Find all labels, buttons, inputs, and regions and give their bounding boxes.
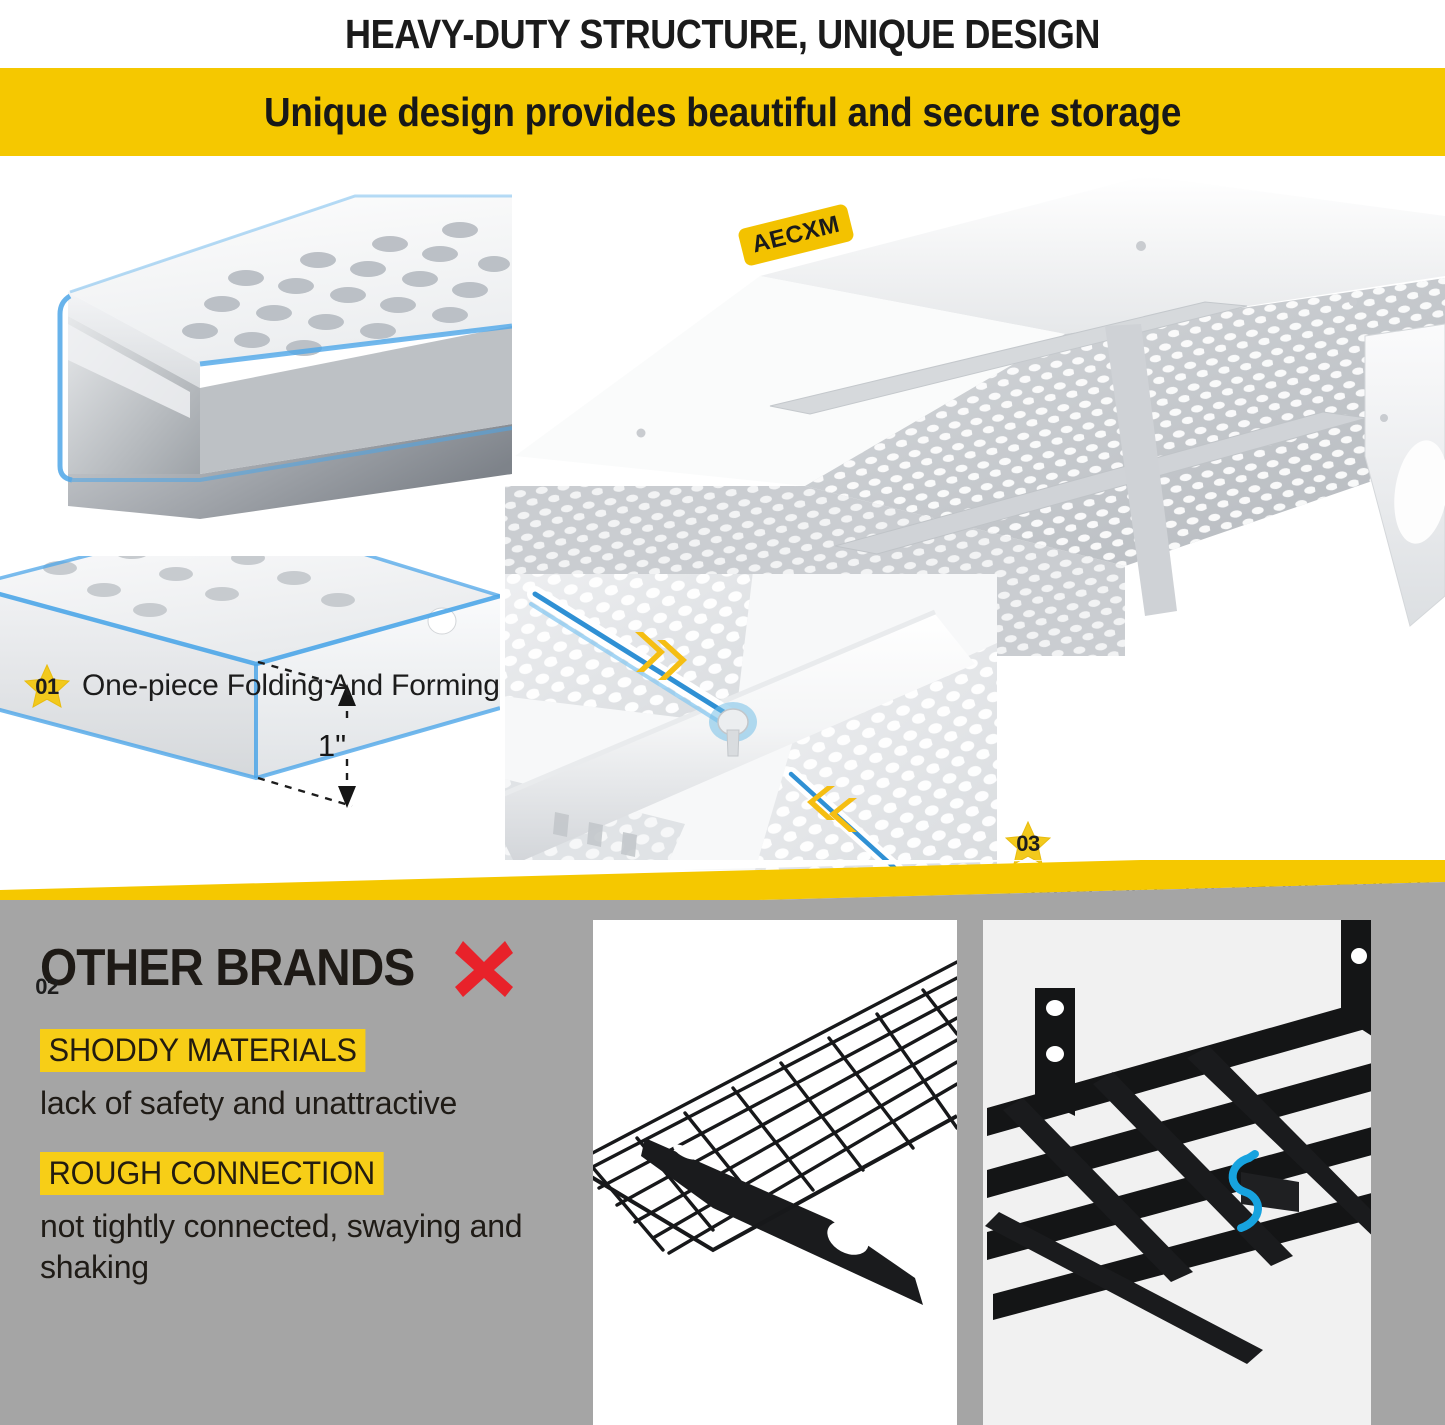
feature-number: 03	[1016, 831, 1039, 857]
star-badge-icon: 01	[24, 664, 70, 708]
page-title: HEAVY-DUTY STRUCTURE, UNIQUE DESIGN	[87, 0, 1359, 68]
comparison-item: ROUGH CONNECTION not tightly connected, …	[40, 1152, 600, 1288]
feature-callout-01: 01 One-piece Folding And Forming	[24, 664, 500, 708]
one-piece-folding-image	[0, 174, 512, 519]
star-badge-icon: 03	[1005, 821, 1051, 865]
comparison-description: not tightly connected, swaying and shaki…	[40, 1206, 580, 1288]
feature-number: 01	[35, 674, 58, 700]
comparison-title: OTHER BRANDS	[40, 938, 414, 998]
feature-number: 02	[35, 974, 58, 1000]
comparison-highlight: SHODDY MATERIALS	[40, 1029, 365, 1072]
other-brand-tube-rack-image	[963, 920, 1383, 1425]
red-x-icon	[451, 935, 517, 1001]
comparison-highlight: ROUGH CONNECTION	[40, 1152, 384, 1195]
comparison-title-row: OTHER BRANDS	[40, 935, 600, 1001]
infographic-page: HEAVY-DUTY STRUCTURE, UNIQUE DESIGN Uniq…	[0, 0, 1445, 1425]
other-brand-wire-rack-image	[593, 920, 957, 1425]
comparison-description: lack of safety and unattractive	[40, 1083, 580, 1124]
comparison-item: SHODDY MATERIALS lack of safety and unat…	[40, 1029, 600, 1124]
comparison-text-block: OTHER BRANDS SHODDY MATERIALS lack of sa…	[40, 935, 600, 1288]
header-subtitle: Unique design provides beautiful and sec…	[264, 89, 1181, 136]
slide-rail-image	[505, 574, 997, 870]
header-banner: Unique design provides beautiful and sec…	[0, 68, 1445, 156]
svg-text:1": 1"	[318, 728, 346, 763]
features-section: AECXM AECXM	[0, 156, 1445, 896]
feature-label: One-piece Folding And Forming	[82, 669, 500, 703]
